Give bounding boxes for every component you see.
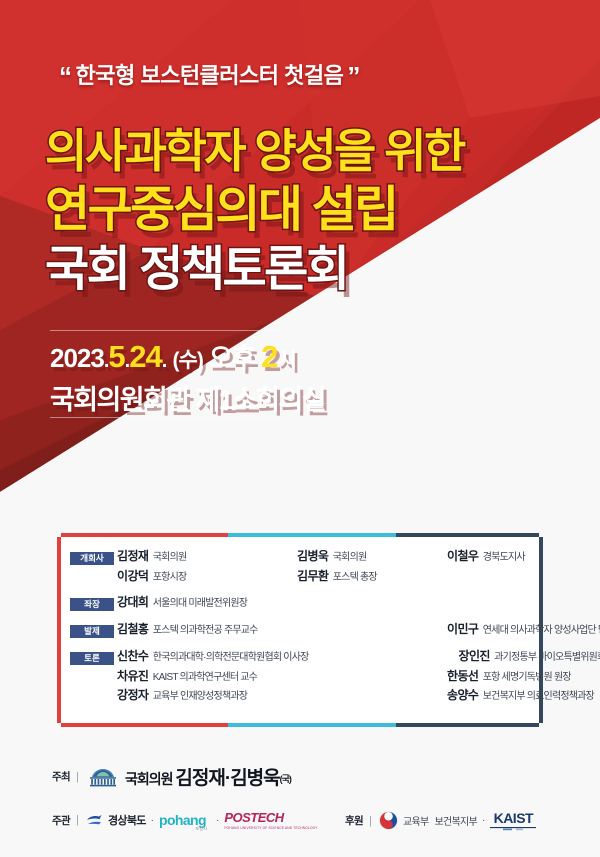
event-date: 2023.5.24. (수) 오후 2시	[50, 338, 296, 375]
sponsor-text-0: 교육부	[403, 813, 429, 828]
program-badge-cell: 토론	[61, 648, 117, 666]
time-ampm: 오후	[209, 343, 255, 373]
program-person	[297, 594, 447, 611]
host-party-tag: (국)	[280, 774, 291, 784]
korea-government-taegeuk-logo	[379, 811, 398, 830]
quote-close-mark: ”	[343, 61, 364, 91]
person-name: 이민구	[447, 622, 478, 636]
program-person: 송양수 보건복지부 의료인력정책과장	[447, 687, 594, 704]
program-people: 이강덕 포항시장김무환 포스텍 총장	[117, 568, 539, 585]
program-person	[297, 687, 447, 704]
program-people: 차유진 KAIST 의과학연구센터 교수한동선 포항 세명기독병원 원장	[117, 668, 571, 685]
host-prefix: 국회의원	[125, 771, 173, 787]
program-badge-cell: 발제	[61, 621, 117, 639]
national-assembly-logo	[86, 767, 120, 787]
program-badge-좌장: 좌장	[70, 598, 114, 612]
organizer-text-0: 경상북도	[108, 812, 146, 828]
person-name: 강정자	[117, 688, 148, 702]
quote-open-mark: “	[55, 61, 76, 91]
program-people: 강정자 교육부 인재양성정책과장송양수 보건복지부 의료인력정책과장	[117, 687, 594, 704]
person-name: 강대희	[117, 595, 148, 609]
date-month: 5	[108, 339, 124, 374]
program-person: 김정재 국회의원	[117, 548, 297, 565]
postech-sub: POHANG UNIVERSITY OF SCIENCE AND TECHNOL…	[224, 826, 317, 830]
program-person	[447, 568, 539, 585]
divider-above-date	[50, 330, 282, 331]
tagline-text: 한국형 보스턴클러스터 첫걸음	[76, 63, 344, 88]
host-name-2: 김병욱	[230, 768, 279, 789]
person-affiliation: 한국의과대학·의학전문대학원협회 이사장	[153, 652, 309, 663]
pohang-sub: 포항시	[195, 826, 207, 832]
person-affiliation: 서울의대 미래발전위원장	[153, 598, 247, 609]
person-affiliation: 포스텍 의과학전공 주무교수	[153, 625, 258, 636]
program-person: 김철홍 포스텍 의과학전공 주무교수	[117, 621, 297, 638]
program-person: 이강덕 포항시장	[117, 568, 297, 585]
sponsor-separator: |	[369, 815, 372, 827]
kaist-underline-icon	[490, 826, 536, 831]
person-name: 장인진	[459, 649, 490, 663]
person-name: 이강덕	[117, 569, 148, 583]
footer-organizer-row: 주관 | 경상북도 · pohang 포항시 · POSTECH POHANG …	[52, 810, 323, 830]
program-person: 이민구 연세대 의사과학자 양성사업단 단장	[447, 621, 600, 638]
footer-sponsor-row: 후원 | 교육부 보건복지부 · KAIST	[345, 810, 541, 831]
person-affiliation: 포항 세명기독병원 원장	[483, 672, 571, 683]
host-label: 주최	[52, 769, 70, 784]
date-day: 24	[129, 339, 161, 374]
organizer-dot-1: ·	[151, 815, 154, 826]
kaist-wordmark: KAIST	[494, 810, 534, 826]
program-people: 강대희 서울의대 미래발전위원장	[117, 594, 539, 611]
program-row: 이강덕 포항시장김무환 포스텍 총장	[61, 568, 539, 585]
sponsor-label: 후원	[345, 813, 363, 828]
sponsor-text-1: 보건복지부	[434, 813, 477, 828]
program-badge-발제: 발제	[70, 625, 114, 639]
program-row: 좌장강대희 서울의대 미래발전위원장	[61, 594, 539, 612]
program-person: 한동선 포항 세명기독병원 원장	[447, 668, 571, 685]
program-person: 신찬수 한국의과대학·의학전문대학원협회 이사장	[117, 648, 309, 665]
program-person: 김무환 포스텍 총장	[297, 568, 447, 585]
program-person: 김병욱 국회의원	[297, 548, 447, 565]
host-separator: |	[76, 771, 79, 783]
person-name: 김철홍	[117, 622, 148, 636]
poster-tagline: “한국형 보스턴클러스터 첫걸음”	[55, 58, 364, 92]
person-affiliation: 경북도지사	[483, 552, 525, 563]
program-person	[447, 594, 539, 611]
person-affiliation: 연세대 의사과학자 양성사업단 단장	[483, 625, 600, 636]
program-row: 발제김철홍 포스텍 의과학전공 주무교수이민구 연세대 의사과학자 양성사업단 …	[61, 621, 539, 639]
person-name: 김무환	[297, 569, 328, 583]
person-name: 김정재	[117, 549, 148, 563]
program-person: 장인진 과기정통부 바이오특별위원회 위원장	[459, 648, 600, 665]
event-poster: “한국형 보스턴클러스터 첫걸음” 의사과학자 양성을 위한 연구중심의대 설립…	[0, 0, 600, 857]
program-people: 신찬수 한국의과대학·의학전문대학원협회 이사장장인진 과기정통부 바이오특별위…	[117, 648, 600, 665]
date-weekday: (수)	[173, 349, 203, 372]
person-affiliation: 교육부 인재양성정책과장	[153, 691, 247, 702]
program-row: 개회사김정재 국회의원김병욱 국회의원이철우 경북도지사	[61, 548, 539, 566]
program-row: 강정자 교육부 인재양성정책과장송양수 보건복지부 의료인력정책과장	[61, 687, 539, 704]
person-affiliation: 국회의원	[153, 552, 187, 563]
program-person: 강정자 교육부 인재양성정책과장	[117, 687, 297, 704]
program-badge-cell: 개회사	[61, 548, 117, 566]
time-hour: 2	[261, 339, 277, 374]
person-name: 차유진	[117, 669, 148, 683]
program-panel: 개회사김정재 국회의원김병욱 국회의원이철우 경북도지사이강덕 포항시장김무환 …	[57, 537, 543, 723]
person-affiliation: 보건복지부 의료인력정책과장	[483, 691, 594, 702]
person-affiliation: 과기정통부 바이오특별위원회 위원장	[494, 652, 600, 663]
organizer-label: 주관	[52, 813, 70, 828]
event-venue: 국회의원회관 제1소회의실	[50, 378, 325, 417]
program-badge-토론: 토론	[70, 652, 114, 666]
program-badge-cell: 좌장	[61, 594, 117, 612]
date-year: 2023	[50, 343, 104, 373]
program-badge-개회사: 개회사	[70, 552, 114, 566]
headline-line-3: 국회 정책토론회	[45, 229, 347, 299]
organizer-separator: |	[76, 814, 79, 826]
program-people: 김철홍 포스텍 의과학전공 주무교수이민구 연세대 의사과학자 양성사업단 단장	[117, 621, 600, 638]
kaist-logo: KAIST	[490, 810, 536, 831]
person-name: 신찬수	[117, 649, 148, 663]
person-name: 한동선	[447, 669, 478, 683]
sponsor-dot: ·	[482, 815, 485, 826]
program-person: 차유진 KAIST 의과학연구센터 교수	[117, 668, 297, 685]
person-name: 김병욱	[297, 549, 328, 563]
time-hour-unit: 시	[277, 349, 295, 372]
program-people: 김정재 국회의원김병욱 국회의원이철우 경북도지사	[117, 548, 539, 565]
pohang-city-logo: pohang 포항시	[159, 812, 206, 828]
postech-wordmark: POSTECH	[224, 810, 283, 825]
person-name: 송양수	[447, 688, 478, 702]
footer-host-row: 주최 | 국회의원	[52, 763, 291, 790]
organizer-dot-2: ·	[216, 815, 219, 826]
panel-border-segment-red	[61, 723, 228, 727]
person-affiliation: KAIST 의과학연구센터 교수	[153, 672, 257, 683]
person-affiliation: 포스텍 총장	[333, 572, 377, 583]
program-person	[297, 668, 447, 685]
panel-border-segment-cyan	[228, 723, 395, 727]
person-affiliation: 국회의원	[333, 552, 367, 563]
gyeongsangbukdo-logo	[86, 813, 103, 827]
program-person	[309, 648, 459, 665]
program-row: 토론신찬수 한국의과대학·의학전문대학원협회 이사장장인진 과기정통부 바이오특…	[61, 648, 539, 666]
program-row: 차유진 KAIST 의과학연구센터 교수한동선 포항 세명기독병원 원장	[61, 668, 539, 685]
host-name: 국회의원 김정재·김병욱(국)	[125, 763, 291, 790]
program-rows: 개회사김정재 국회의원김병욱 국회의원이철우 경북도지사이강덕 포항시장김무환 …	[61, 537, 539, 706]
program-person	[297, 621, 447, 638]
program-person: 이철우 경북도지사	[447, 548, 539, 565]
date-sep-3: .	[162, 350, 167, 372]
person-name: 이철우	[447, 549, 478, 563]
host-name-1: 김정재	[175, 768, 224, 789]
person-affiliation: 포항시장	[153, 572, 187, 583]
panel-bottom-border	[61, 723, 539, 727]
program-person: 강대희 서울의대 미래발전위원장	[117, 594, 297, 611]
divider-below-date	[50, 417, 282, 418]
postech-logo: POSTECH POHANG UNIVERSITY OF SCIENCE AND…	[224, 810, 317, 830]
panel-border-segment-navy	[396, 723, 539, 727]
